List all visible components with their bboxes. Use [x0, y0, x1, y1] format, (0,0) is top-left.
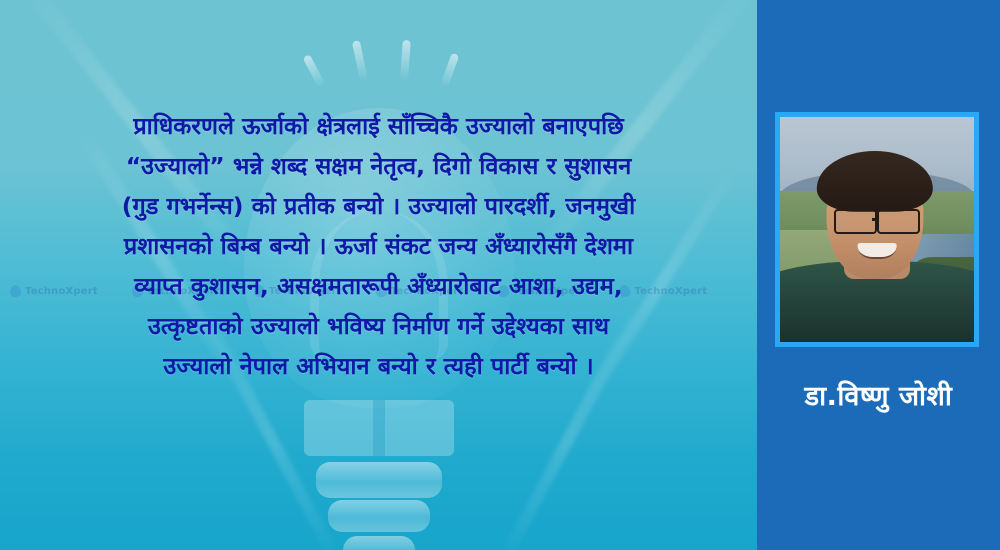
light-ray-icon: [303, 54, 326, 88]
quote-line: उज्यालो नेपाल अभियान बन्यो र त्यही पार्ट…: [20, 346, 737, 386]
photo-subject-glasses-bridge: [872, 218, 879, 221]
light-ray-icon: [400, 40, 411, 80]
quote-line: प्राधिकरणले ऊर्जाको क्षेत्रलाई साँच्चिकै…: [20, 106, 737, 146]
quote-line: उत्कृष्टताको उज्यालो भविष्य निर्माण गर्न…: [20, 306, 737, 346]
quote-card: TechnoXpertTechnoXpertTechnoXpertTechnoX…: [0, 0, 1000, 550]
lightbulb-screw-band-icon: [316, 462, 442, 498]
photo-subject-glasses-left: [834, 209, 877, 233]
lightbulb-screw-band-icon: [328, 500, 430, 532]
author-photo: [775, 112, 979, 347]
lightbulb-screw-band-icon: [343, 536, 415, 550]
lightbulb-neck-split-icon: [373, 400, 385, 456]
quote-line: प्रशासनको बिम्ब बन्यो । ऊर्जा संकट जन्य …: [20, 226, 737, 266]
author-name: डा.विष्णु जोशी: [757, 376, 1000, 413]
photo-subject-glasses-right: [877, 209, 920, 233]
quote-text: प्राधिकरणले ऊर्जाको क्षेत्रलाई साँच्चिकै…: [20, 106, 737, 386]
quote-line: (गुड गभर्नेन्स) को प्रतीक बन्यो । उज्याल…: [20, 186, 737, 226]
quote-line: व्याप्त कुशासन, असक्षमतारूपी अँध्यारोबाट…: [20, 266, 737, 306]
quote-line: “उज्यालो” भन्ने शब्द सक्षम नेतृत्व, दिगो…: [20, 146, 737, 186]
light-ray-icon: [440, 53, 459, 88]
light-ray-icon: [352, 40, 368, 81]
photo-subject-smile: [858, 243, 897, 259]
quote-panel: TechnoXpertTechnoXpertTechnoXpertTechnoX…: [0, 0, 757, 550]
portrait-panel: डा.विष्णु जोशी: [757, 0, 1000, 550]
